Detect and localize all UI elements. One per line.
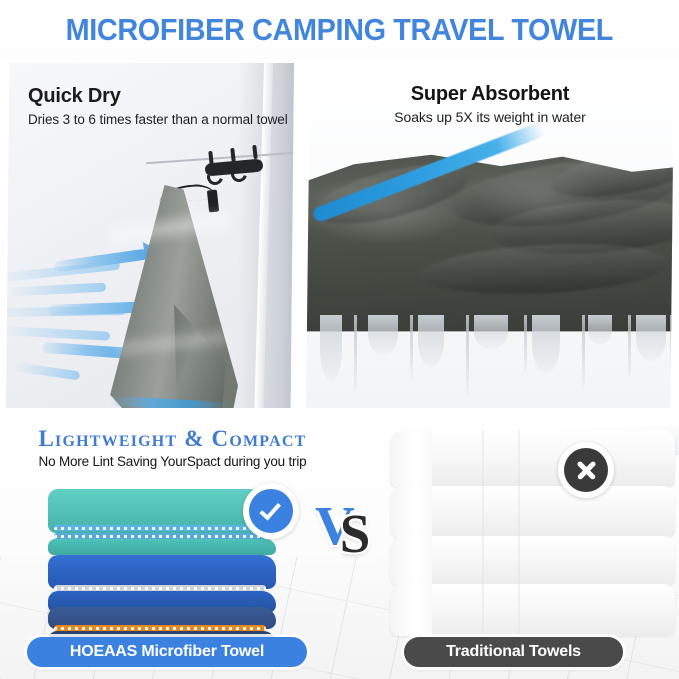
quick-dry-text-block: Quick Dry Dries 3 to 6 times faster than… <box>28 85 288 128</box>
super-absorbent-subtitle: Soaks up 5X its weight in water <box>306 109 674 125</box>
page-title: MICROFIBER CAMPING TRAVEL TOWEL <box>66 12 613 48</box>
wet-twisted-towel-image <box>306 149 674 339</box>
list-item <box>390 536 675 586</box>
check-circle-icon <box>243 483 299 539</box>
list-item <box>390 584 675 636</box>
x-circle-icon <box>558 442 614 498</box>
header-banner: MICROFIBER CAMPING TRAVEL TOWEL <box>0 0 679 60</box>
list-item <box>48 539 276 555</box>
towel-trim <box>54 525 266 531</box>
microfiber-towel-stack <box>48 489 283 641</box>
versus-s: S <box>340 506 366 561</box>
panel-quick-dry: Quick Dry Dries 3 to 6 times faster than… <box>6 63 294 408</box>
traditional-towel-stack <box>390 430 678 642</box>
comparison-subtitle: No More Lint Saving YourSpact during you… <box>0 454 345 469</box>
list-item <box>390 486 675 538</box>
traditional-towels-label: Traditional Towels <box>404 637 623 667</box>
infographic-page: MICROFIBER CAMPING TRAVEL TOWEL <box>0 0 679 679</box>
list-item <box>390 430 675 488</box>
quick-dry-subtitle: Dries 3 to 6 times faster than a normal … <box>28 111 288 128</box>
hoeaas-towel-label: HOEAAS Microfiber Towel <box>27 637 307 667</box>
panel-super-absorbent: Super Absorbent Soaks up 5X its weight i… <box>306 63 674 408</box>
super-absorbent-text-block: Super Absorbent Soaks up 5X its weight i… <box>306 83 674 125</box>
versus-badge: VS <box>315 498 385 560</box>
comparison-heading-block: Lightweight & Compact No More Lint Savin… <box>0 426 345 469</box>
list-item <box>48 555 276 589</box>
hook-rack-icon <box>181 143 291 198</box>
quick-dry-title: Quick Dry <box>28 85 288 108</box>
water-drips <box>306 315 674 408</box>
super-absorbent-title: Super Absorbent <box>306 83 674 106</box>
comparison-title: Lightweight & Compact <box>0 426 345 452</box>
